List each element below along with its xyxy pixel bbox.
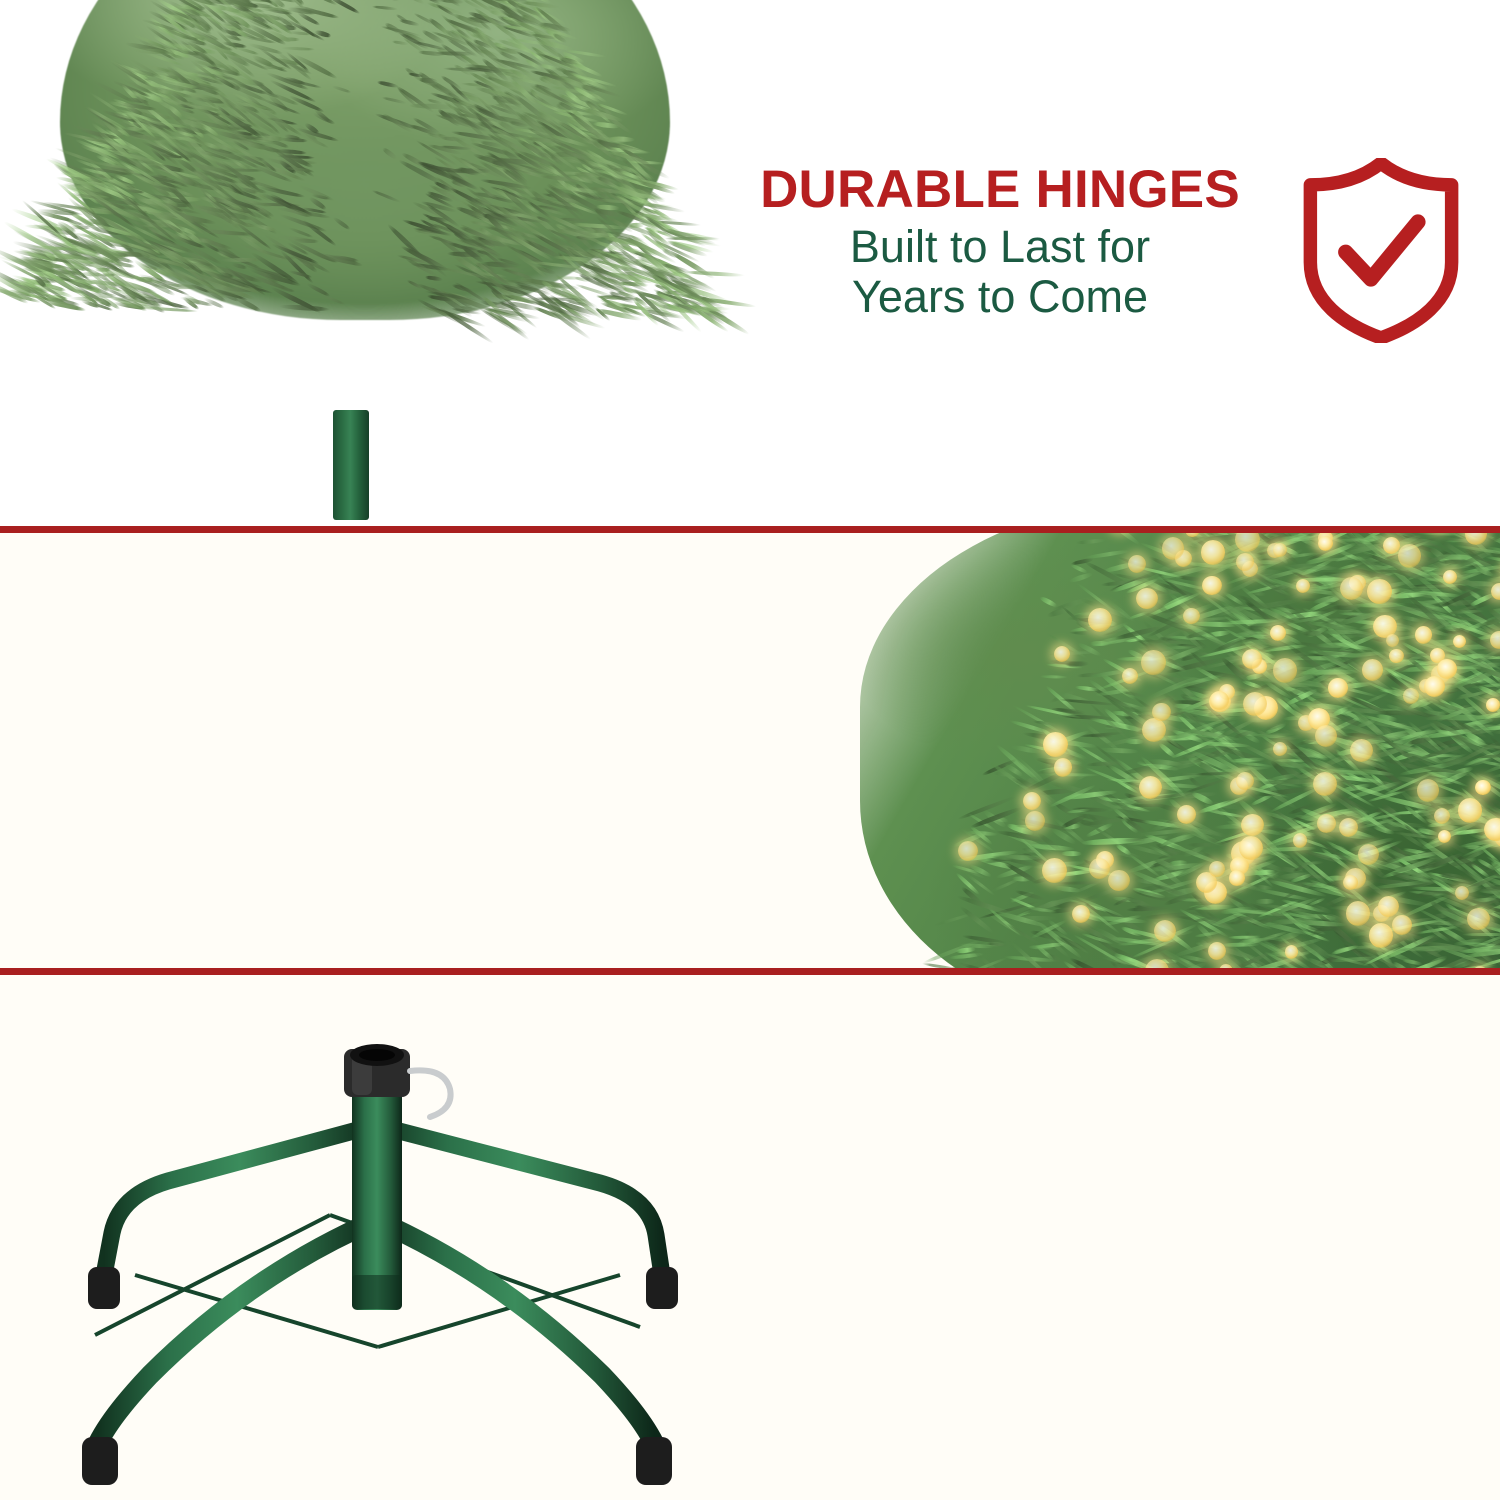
tree-stand-drawing [0,975,750,1500]
panel-divider-bottom [0,968,1500,975]
panel-durable-hinges: DURABLE HINGES Built to Last for Years t… [0,0,1500,528]
christmas-tree-photo [0,0,745,528]
tree-stand-photo [0,975,750,1500]
feature-subline-line1: Built to Last for [745,222,1255,272]
feature-headline: DURABLE HINGES [745,163,1255,216]
panel-divider-top [0,526,1500,533]
shield-check-icon [1296,158,1466,343]
feature-subline-line2: Years to Come [745,272,1255,322]
tree-center-pole [333,410,369,520]
tree-foliage [20,0,710,440]
panel-sturdy-base: STURDY BASE Foldable Metal Tree Stand fo… [0,975,1500,1500]
prelit-tree-foliage [860,533,1500,970]
product-feature-infographic: DURABLE HINGES Built to Last for Years t… [0,0,1500,1500]
panel-pvc-pe-branches: PVC & PE BRANCHES Long Lasting Fire Reta… [0,533,1500,970]
prelit-tree-photo [820,533,1500,970]
feature-copy-hinges: DURABLE HINGES Built to Last for Years t… [745,163,1255,323]
